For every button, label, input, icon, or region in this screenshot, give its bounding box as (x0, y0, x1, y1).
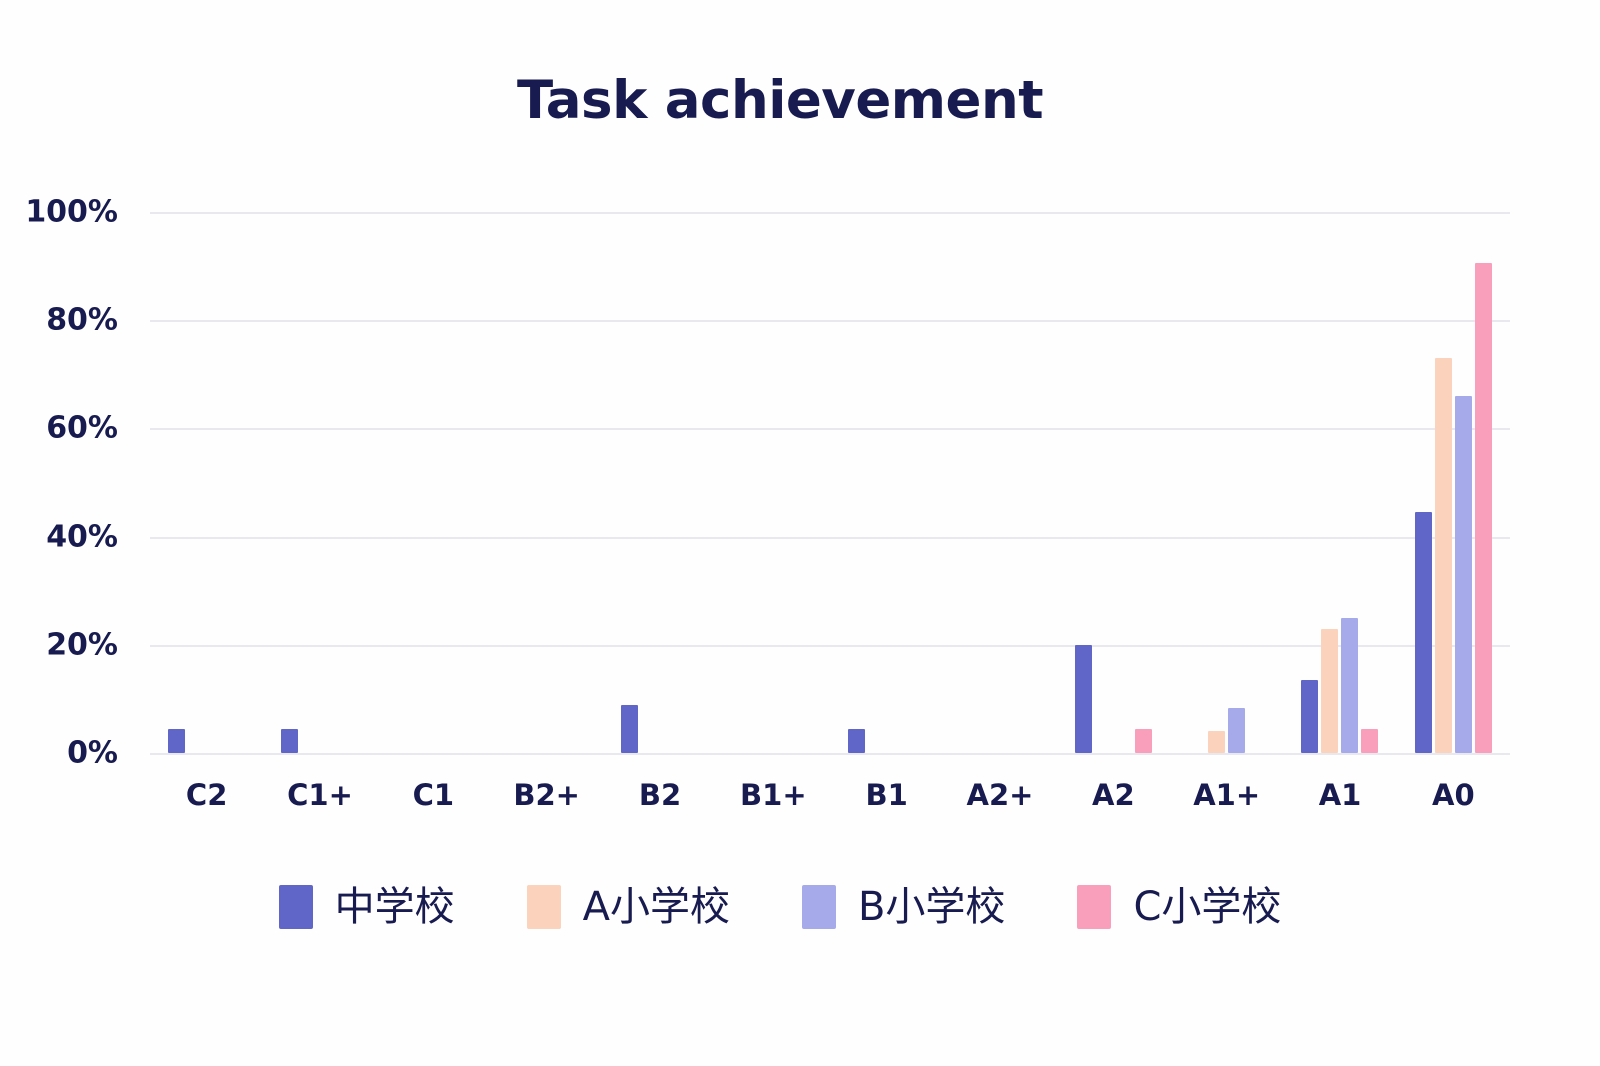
y-tick-label: 20% (0, 627, 134, 662)
bar (621, 705, 638, 753)
bar (1075, 645, 1092, 753)
x-tick-label: B2 (639, 778, 681, 812)
legend-label: B小学校 (858, 887, 1005, 927)
x-tick-label: A0 (1432, 778, 1475, 812)
bar-group (1057, 212, 1170, 753)
x-tick-label: C1+ (287, 778, 353, 812)
legend-swatch-icon (279, 885, 313, 929)
bar-group (490, 212, 603, 753)
chart-title: Task achievement (0, 72, 1560, 130)
x-tick-label: C1 (413, 778, 454, 812)
legend-label: C小学校 (1133, 887, 1281, 927)
bar-group (150, 212, 263, 753)
bar (1135, 729, 1152, 753)
bar (168, 729, 185, 753)
x-tick-label: A1+ (1193, 778, 1260, 812)
bar-group (1170, 212, 1283, 753)
legend-swatch-icon (802, 885, 836, 929)
x-tick-label: B1+ (740, 778, 807, 812)
x-tick-label: B2+ (513, 778, 580, 812)
y-tick-label: 100% (0, 195, 134, 230)
bar-group (263, 212, 376, 753)
bar-group (377, 212, 490, 753)
gridline (150, 753, 1510, 755)
bar (1301, 680, 1318, 753)
x-tick-label: A2+ (967, 778, 1034, 812)
bar (1341, 618, 1358, 753)
bar (1455, 396, 1472, 753)
x-tick-label: A2 (1092, 778, 1135, 812)
bar (1415, 512, 1432, 753)
x-tick-label: A1 (1319, 778, 1362, 812)
legend-item[interactable]: 中学校 (279, 885, 455, 929)
chart-legend: 中学校A小学校B小学校C小学校 (0, 885, 1560, 929)
y-tick-label: 60% (0, 411, 134, 446)
legend-swatch-icon (1077, 885, 1111, 929)
legend-swatch-icon (527, 885, 561, 929)
bar-group (1397, 212, 1510, 753)
legend-label: 中学校 (335, 887, 455, 927)
y-tick-label: 80% (0, 303, 134, 338)
bar (1208, 731, 1225, 753)
legend-item[interactable]: B小学校 (802, 885, 1005, 929)
legend-item[interactable]: C小学校 (1077, 885, 1281, 929)
bar-group (943, 212, 1056, 753)
plot-area (150, 212, 1510, 753)
x-tick-label: B1 (866, 778, 908, 812)
bar-group (830, 212, 943, 753)
bar (281, 729, 298, 753)
bar (1321, 629, 1338, 753)
legend-item[interactable]: A小学校 (527, 885, 730, 929)
x-tick-label: C2 (186, 778, 227, 812)
bar (1361, 729, 1378, 753)
bar (1228, 708, 1245, 753)
chart-container: Task achievement 0%20%40%60%80%100% C2C1… (0, 0, 1600, 1066)
bar (1435, 358, 1452, 753)
bar-group (603, 212, 716, 753)
bar-group (717, 212, 830, 753)
y-tick-label: 0% (0, 736, 134, 771)
legend-label: A小学校 (583, 887, 730, 927)
y-tick-label: 40% (0, 519, 134, 554)
x-axis: C2C1+C1B2+B2B1+B1A2+A2A1+A1A0 (150, 778, 1510, 828)
bar-group (1283, 212, 1396, 753)
bar (848, 729, 865, 753)
bar (1475, 263, 1492, 753)
